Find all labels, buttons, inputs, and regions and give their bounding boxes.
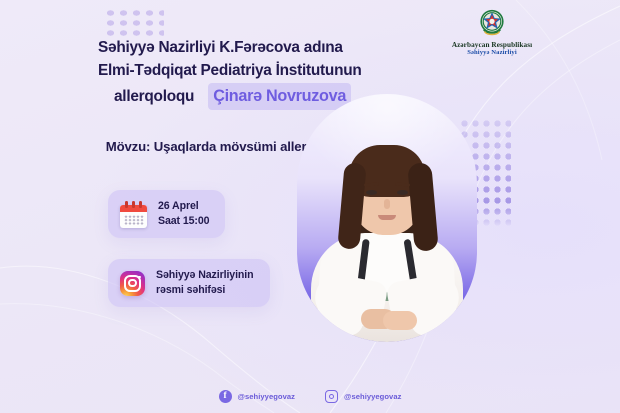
- calendar-icon: [120, 201, 147, 228]
- poster-canvas: Azərbaycan Respublikası Səhiyyə Nazirliy…: [0, 0, 620, 413]
- facebook-icon: [219, 390, 232, 403]
- doctor-portrait: [297, 127, 477, 342]
- instagram-card[interactable]: Səhiyyə Nazirliyinin rəsmi səhifəsi: [108, 259, 270, 307]
- footer-social-bar: @sehiyyegovaz @sehiyyegovaz: [0, 390, 620, 403]
- headline-line-1: Səhiyyə Nazirliyi K.Fərəcova adına: [98, 36, 438, 59]
- instagram-card-text: Səhiyyə Nazirliyinin rəsmi səhifəsi: [156, 268, 254, 298]
- date-card-line-1: 26 Aprel: [158, 199, 209, 214]
- doctor-photo-panel: [297, 94, 477, 342]
- facebook-handle: @sehiyyegovaz: [238, 392, 295, 401]
- instagram-handle: @sehiyyegovaz: [344, 392, 401, 401]
- instagram-card-line-1: Səhiyyə Nazirliyinin: [156, 268, 254, 283]
- date-card: 26 Aprel Saat 15:00: [108, 190, 225, 238]
- date-card-text: 26 Aprel Saat 15:00: [158, 199, 209, 229]
- instagram-icon: [325, 390, 338, 403]
- azerbaijan-state-emblem-icon: [475, 6, 509, 40]
- footer-facebook[interactable]: @sehiyyegovaz: [219, 390, 295, 403]
- headline-line-2: Elmi-Tədqiqat Pediatriya İnstitutunun: [98, 59, 438, 82]
- decorative-dot-grid-top-left: [104, 8, 164, 38]
- date-card-line-2: Saat 15:00: [158, 214, 209, 229]
- footer-instagram[interactable]: @sehiyyegovaz: [325, 390, 401, 403]
- instagram-icon: [120, 271, 145, 296]
- headline-role: allerqoloqu: [114, 88, 194, 105]
- ministry-logo: Azərbaycan Respublikası Səhiyyə Nazirliy…: [432, 6, 552, 57]
- instagram-card-line-2: rəsmi səhifəsi: [156, 283, 254, 298]
- logo-line-1: Azərbaycan Respublikası: [432, 41, 552, 49]
- logo-line-2: Səhiyyə Nazirliyi: [432, 49, 552, 57]
